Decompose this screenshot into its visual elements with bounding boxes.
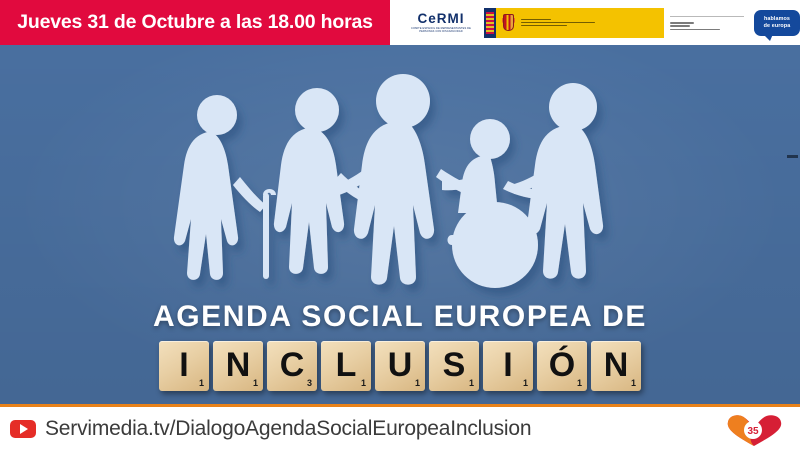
spain-coat-of-arms-icon: [500, 12, 517, 34]
tile-points: 1: [523, 378, 528, 388]
ministry-logo: [484, 8, 664, 38]
main-artwork: AGENDA SOCIAL EUROPEA DE I 1 N 1 C 3 L 1…: [0, 45, 800, 407]
hablamos-line-2: de europa: [764, 23, 791, 29]
youtube-play-icon[interactable]: [10, 420, 36, 438]
tile-letter: U: [388, 348, 413, 382]
sponsor-logo-strip: CeRMI COMITE ESPANOL DE REPRESENTANTES D…: [390, 0, 800, 45]
secretary-of-state-logo: [670, 13, 748, 32]
tile-points: 1: [253, 378, 258, 388]
stream-url[interactable]: Servimedia.tv/DialogoAgendaSocialEuropea…: [45, 417, 531, 441]
tile-points: 1: [631, 378, 636, 388]
tile-letter: S: [443, 348, 466, 382]
hablamos-de-europa-logo: hablamos de europa: [754, 10, 800, 36]
slide-canvas: Jueves 31 de Octubre a las 18.00 horas C…: [0, 0, 800, 450]
cermi-wordmark: CeRMI: [417, 12, 464, 26]
scrabble-tile: N 1: [213, 341, 263, 391]
scrabble-tile: N 1: [591, 341, 641, 391]
secretary-name-lines: [670, 22, 748, 32]
scrabble-tile-row: I 1 N 1 C 3 L 1 U 1 S 1: [0, 341, 800, 391]
tile-points: 1: [199, 378, 204, 388]
ministry-plate: [496, 8, 664, 38]
anniversary-number: 35: [747, 426, 759, 437]
scrabble-tile: C 3: [267, 341, 317, 391]
tile-letter: L: [336, 348, 357, 382]
event-date-text: Jueves 31 de Octubre a las 18.00 horas: [17, 11, 373, 34]
scrabble-tile: S 1: [429, 341, 479, 391]
ministry-name-lines: [521, 19, 595, 27]
tile-points: 1: [577, 378, 582, 388]
inclusion-figures-illustration: [150, 65, 620, 300]
scrabble-tile: Ó 1: [537, 341, 587, 391]
scrabble-tile: I 1: [159, 341, 209, 391]
event-date-banner: Jueves 31 de Octubre a las 18.00 horas: [0, 0, 390, 45]
divider: [670, 16, 744, 17]
tile-letter: I: [179, 348, 188, 382]
edge-marker: [787, 155, 798, 158]
spain-flag-bar-icon: [484, 8, 496, 38]
scrabble-tile: L 1: [321, 341, 371, 391]
page-title: AGENDA SOCIAL EUROPEA DE: [0, 300, 800, 334]
tile-letter: N: [604, 348, 629, 382]
scrabble-tile: U 1: [375, 341, 425, 391]
footer-bar: Servimedia.tv/DialogoAgendaSocialEuropea…: [0, 407, 800, 450]
tile-points: 1: [469, 378, 474, 388]
tile-letter: I: [503, 348, 512, 382]
scrabble-tile: I 1: [483, 341, 533, 391]
header-bar: Jueves 31 de Octubre a las 18.00 horas C…: [0, 0, 800, 45]
tile-letter: N: [226, 348, 251, 382]
tile-points: 1: [415, 378, 420, 388]
cermi-logo: CeRMI COMITE ESPANOL DE REPRESENTANTES D…: [404, 12, 478, 34]
tile-points: 3: [307, 378, 312, 388]
cermi-subtitle: COMITE ESPANOL DE REPRESENTANTES DE PERS…: [406, 27, 476, 34]
tile-letter: C: [280, 348, 305, 382]
tile-letter: Ó: [549, 348, 575, 382]
servimedia-35-logo: 35: [722, 413, 786, 447]
tile-points: 1: [361, 378, 366, 388]
